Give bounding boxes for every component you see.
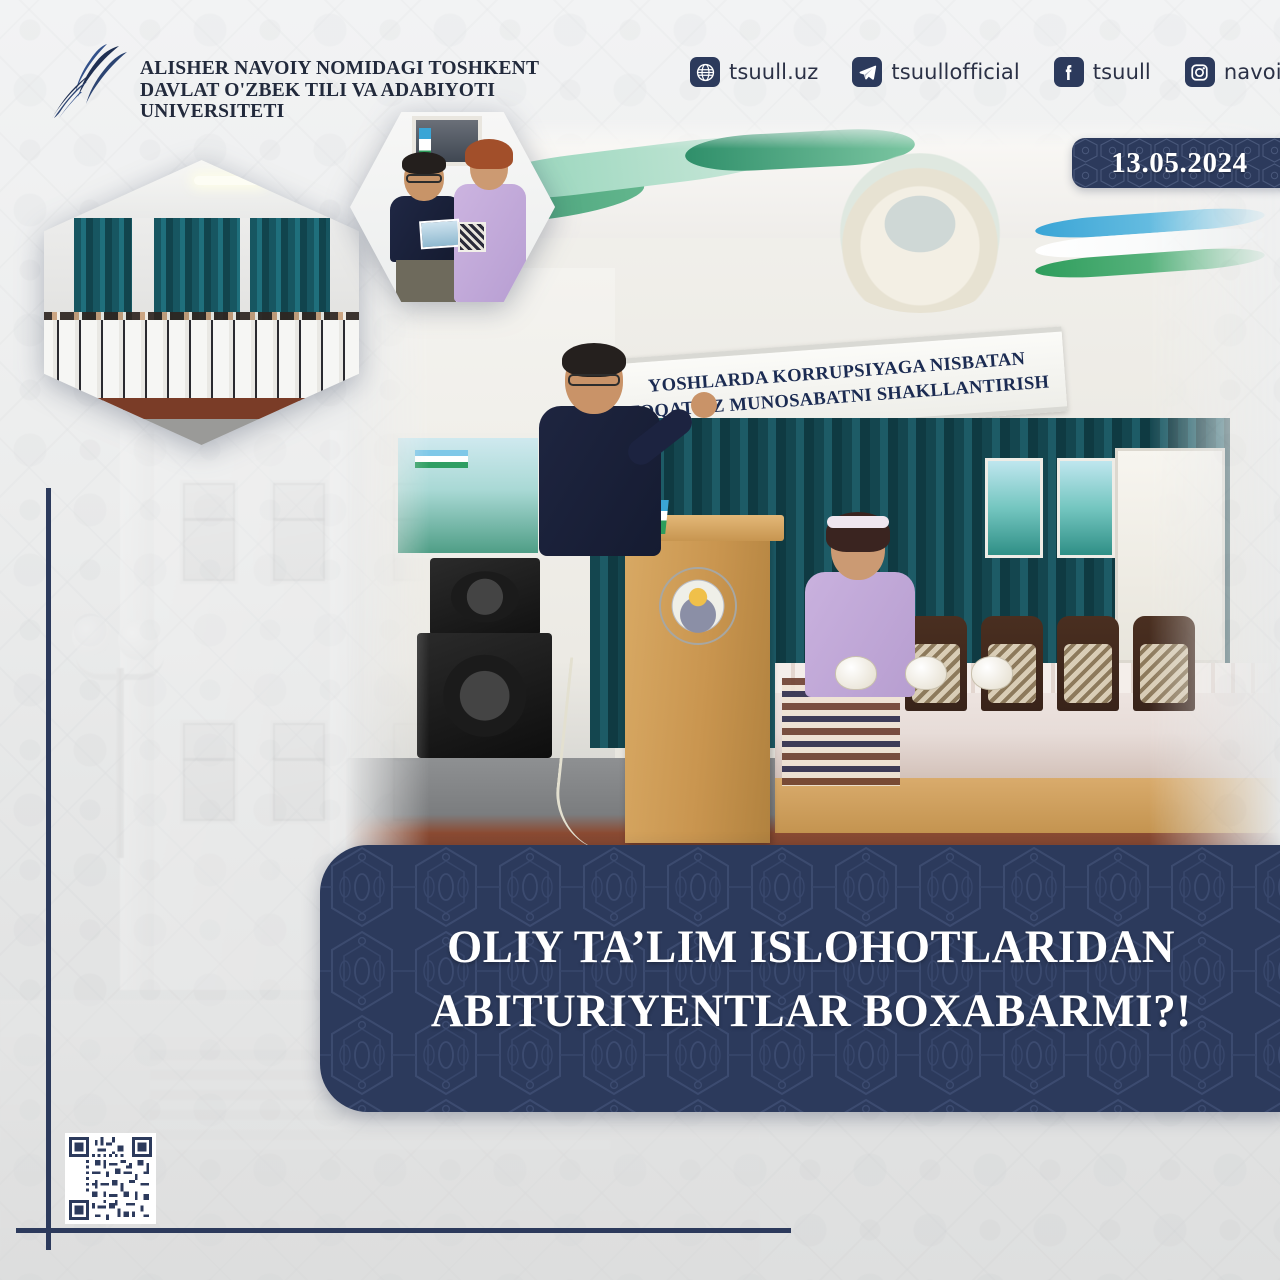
title-line-2: ABITURIYENTLAR BOXABARMI?! [431,979,1192,1043]
social-facebook[interactable]: tsuull [1054,57,1151,87]
info-poster-1 [985,458,1043,558]
chair-3 [1057,616,1119,711]
microphone-cable [550,657,689,859]
facebook-icon [1054,57,1084,87]
uzbekistan-state-emblem [659,567,737,645]
social-website[interactable]: tsuull.uz [690,57,818,87]
social-telegram-handle: tsuullofficial [891,60,1019,84]
qr-code-icon [69,1137,152,1220]
university-logo [47,42,135,118]
speaker-person [535,348,665,608]
page-header: ALISHER NAVOIY NOMIDAGI TOSHKENT DAVLAT … [0,0,1280,120]
chair-4 [1133,616,1195,711]
telegram-icon [852,57,882,87]
title-banner: OLIY TA’LIM ISLOHOTLARIDAN ABITURIYENTLA… [320,845,1280,1112]
instagram-icon [1185,57,1215,87]
book-gift [419,219,461,250]
inset-audience-photo [44,160,359,445]
social-telegram[interactable]: tsuullofficial [852,57,1019,87]
social-links: tsuull.uz tsuullofficial tsuull [690,52,1280,92]
loudspeaker-top [430,558,540,636]
inset-handover-photo [350,112,555,302]
social-website-handle: tsuull.uz [729,60,818,84]
teapot-1 [835,656,877,690]
wall-poster [393,433,543,558]
title-line-1: OLIY TA’LIM ISLOHOTLARIDAN [448,915,1176,979]
phoenix-bird-logo-icon [47,42,135,118]
poster-root: YOSHLARDA KORRUPSIYAGA NISBATAN TOQATSIZ… [0,0,1280,1280]
social-facebook-handle: tsuull [1093,60,1151,84]
vertical-accent-line [46,488,51,1250]
date-label: 13.05.2024 [1111,147,1248,180]
info-poster-2 [1057,458,1115,558]
globe-icon [690,57,720,87]
organization-name: ALISHER NAVOIY NOMIDAGI TOSHKENT DAVLAT … [140,58,570,123]
date-badge: 13.05.2024 [1072,138,1280,188]
loudspeaker-bottom [417,633,552,758]
social-instagram-handle: navoi.uni [1224,60,1280,84]
teapot-3 [971,656,1013,690]
teapot-2 [905,656,947,690]
horizontal-accent-line [16,1228,791,1233]
uzbek-flag-ribbon [1035,213,1265,295]
souvenir-gift [458,222,486,252]
qr-code[interactable] [65,1133,156,1224]
social-instagram[interactable]: navoi.uni [1185,57,1280,87]
